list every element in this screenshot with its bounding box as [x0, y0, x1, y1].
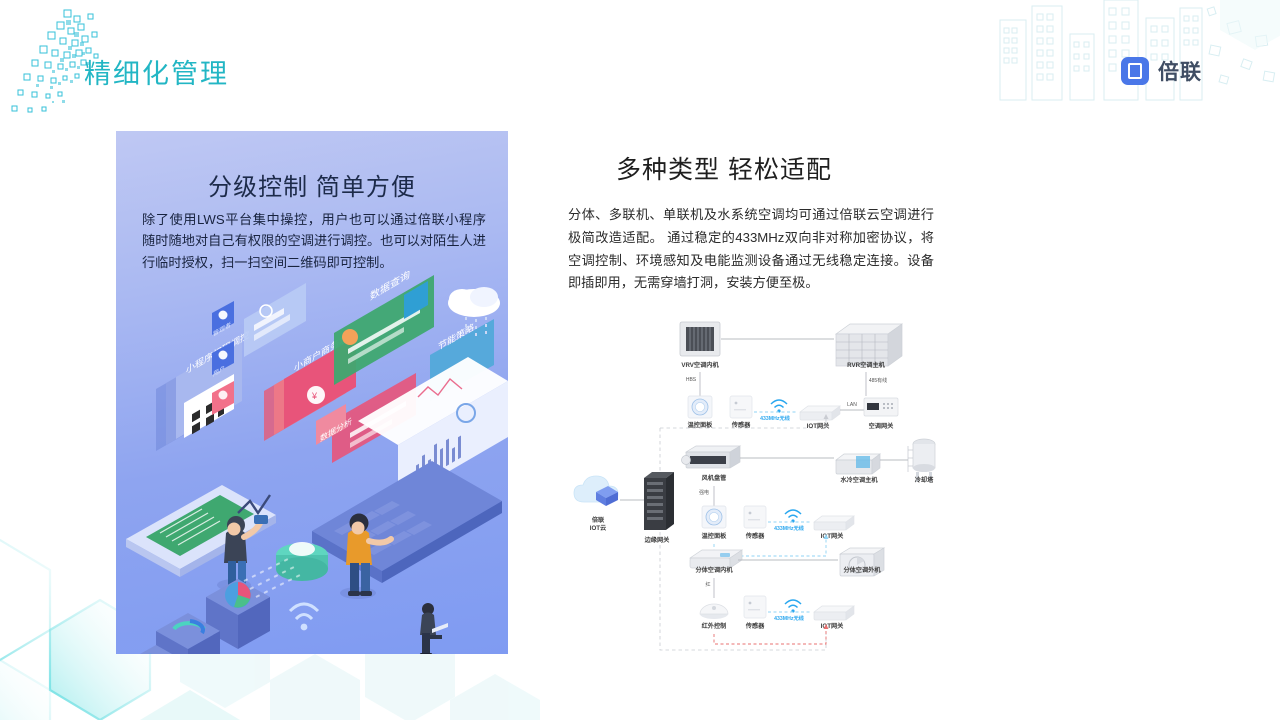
- diagram-label-485: 485有线: [869, 377, 887, 384]
- wifi-icon-row3: [785, 600, 801, 613]
- left-card-title: 分级控制 简单方便: [116, 167, 508, 202]
- right-column-title: 多种类型 轻松适配: [568, 150, 1128, 186]
- iot-topology-diagram: .lbl{font-family:"Liberation Sans",sans-…: [568, 310, 968, 660]
- left-feature-card: 分级控制 简单方便 除了使用LWS平台集中操控，用户也可以通过倍联小程序随时随地…: [116, 131, 508, 654]
- diagram-label-iot-gw-1: IOT网关: [807, 422, 830, 430]
- wifi-icon: [290, 604, 318, 630]
- diagram-label-water-chiller: 水冷空调主机: [840, 476, 878, 484]
- diagram-label-wireless-1: 433MHz无线: [760, 414, 791, 422]
- diagram-label-power: 强电: [699, 489, 709, 496]
- diagram-label-vrv-indoor: VRV空调内机: [681, 361, 719, 369]
- diagram-label-lan: LAN: [847, 402, 857, 408]
- diagram-label-rvr-outdoor: RVR空调主机: [847, 361, 886, 369]
- diagram-label-hbs: HBS: [686, 377, 697, 383]
- right-feature-column: 多种类型 轻松适配 分体、多联机、单联机及水系统空调均可通过倍联云空调进行极简改…: [568, 150, 1128, 295]
- diagram-label-cloud-1: 倍联: [592, 516, 605, 524]
- diagram-label-cloud-2: IOT云: [590, 525, 607, 532]
- diagram-label-sensor-2: 传感器: [745, 532, 765, 540]
- svg-text:¥: ¥: [311, 391, 318, 401]
- diagram-label-panel-2: 温控面板: [702, 532, 728, 540]
- wifi-icon-row1: [771, 400, 787, 413]
- diagram-label-split-indoor: 分体空调内机: [695, 566, 733, 574]
- diagram-label-cooling-tower: 冷却塔: [915, 476, 934, 484]
- brand-name: 倍联: [1158, 56, 1202, 86]
- cloud-icon: [574, 476, 618, 506]
- diagram-label-edge-gw: 边缘网关: [644, 536, 671, 544]
- diagram-label-sensor-3: 传感器: [745, 622, 765, 630]
- diagram-label-sensor-1: 传感器: [731, 421, 751, 429]
- diagram-label-fancoil: 风机盘管: [702, 474, 727, 482]
- diagram-label-panel-1: 温控面板: [688, 421, 714, 429]
- left-card-body: 除了使用LWS平台集中操控，用户也可以通过倍联小程序随时随地对自己有权限的空调进…: [142, 209, 486, 273]
- diagram-label-ac-gw: 空调网关: [869, 422, 895, 430]
- page-title: 精细化管理: [84, 52, 229, 91]
- page-header: 精细化管理 倍联: [0, 0, 1280, 118]
- diagram-label-ir-link: 红: [705, 581, 710, 588]
- diagram-label-split-outdoor: 分体空调外机: [843, 566, 881, 574]
- wifi-icon-row2: [785, 510, 801, 523]
- diagram-label-wireless-3: 433MHz无线: [774, 614, 805, 622]
- square-logo-icon: [1121, 57, 1149, 85]
- isometric-platform-illustration: 小程序扫码调控 管理者: [116, 271, 508, 654]
- right-column-body: 分体、多联机、单联机及水系统空调均可通过倍联云空调进行极简改造适配。 通过稳定的…: [568, 204, 934, 295]
- brand-logo: 倍联: [1121, 56, 1202, 86]
- slide-root: 精细化管理 倍联 分级控制 简单方便 除了使用LWS平台集中操控，用户也可以通过…: [0, 0, 1280, 720]
- diagram-label-ir-control: 红外控制: [702, 622, 727, 630]
- diagram-label-wireless-2: 433MHz无线: [774, 524, 805, 532]
